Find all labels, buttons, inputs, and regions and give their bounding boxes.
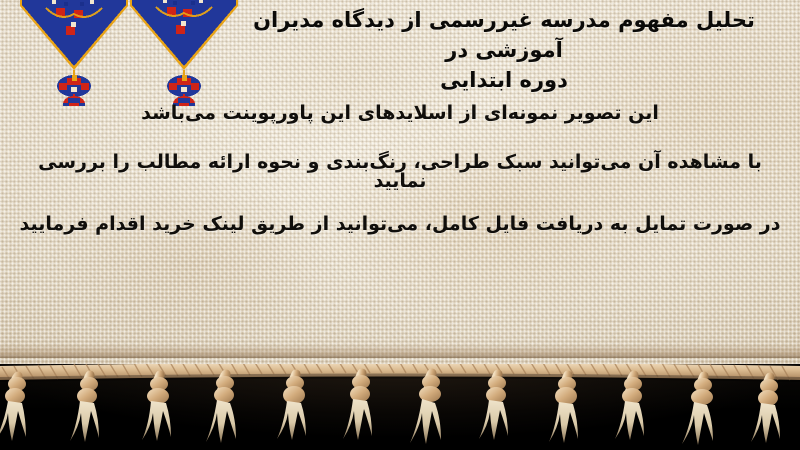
body-line-3: در صورت تمایل به دریافت فایل کامل، می‌تو… bbox=[18, 215, 782, 234]
slide-title-line-1: تحلیل مفهوم مدرسه غیررسمی از دیدگاه مدیر… bbox=[224, 6, 784, 66]
slide-title: تحلیل مفهوم مدرسه غیررسمی از دیدگاه مدیر… bbox=[224, 6, 784, 95]
carpet-knotted-fringe bbox=[0, 364, 800, 450]
slide-body-text: این تصویر نمونه‌ای از اسلایدهای این پاور… bbox=[18, 104, 782, 234]
body-line-2: با مشاهده آن می‌توانید سبک طراحی، رنگ‌بن… bbox=[18, 153, 782, 191]
body-line-1: این تصویر نمونه‌ای از اسلایدهای این پاور… bbox=[18, 104, 782, 123]
powerpoint-slide-preview: تحلیل مفهوم مدرسه غیررسمی از دیدگاه مدیر… bbox=[0, 0, 800, 450]
slide-title-line-2: دوره ابتدایی bbox=[224, 66, 784, 96]
